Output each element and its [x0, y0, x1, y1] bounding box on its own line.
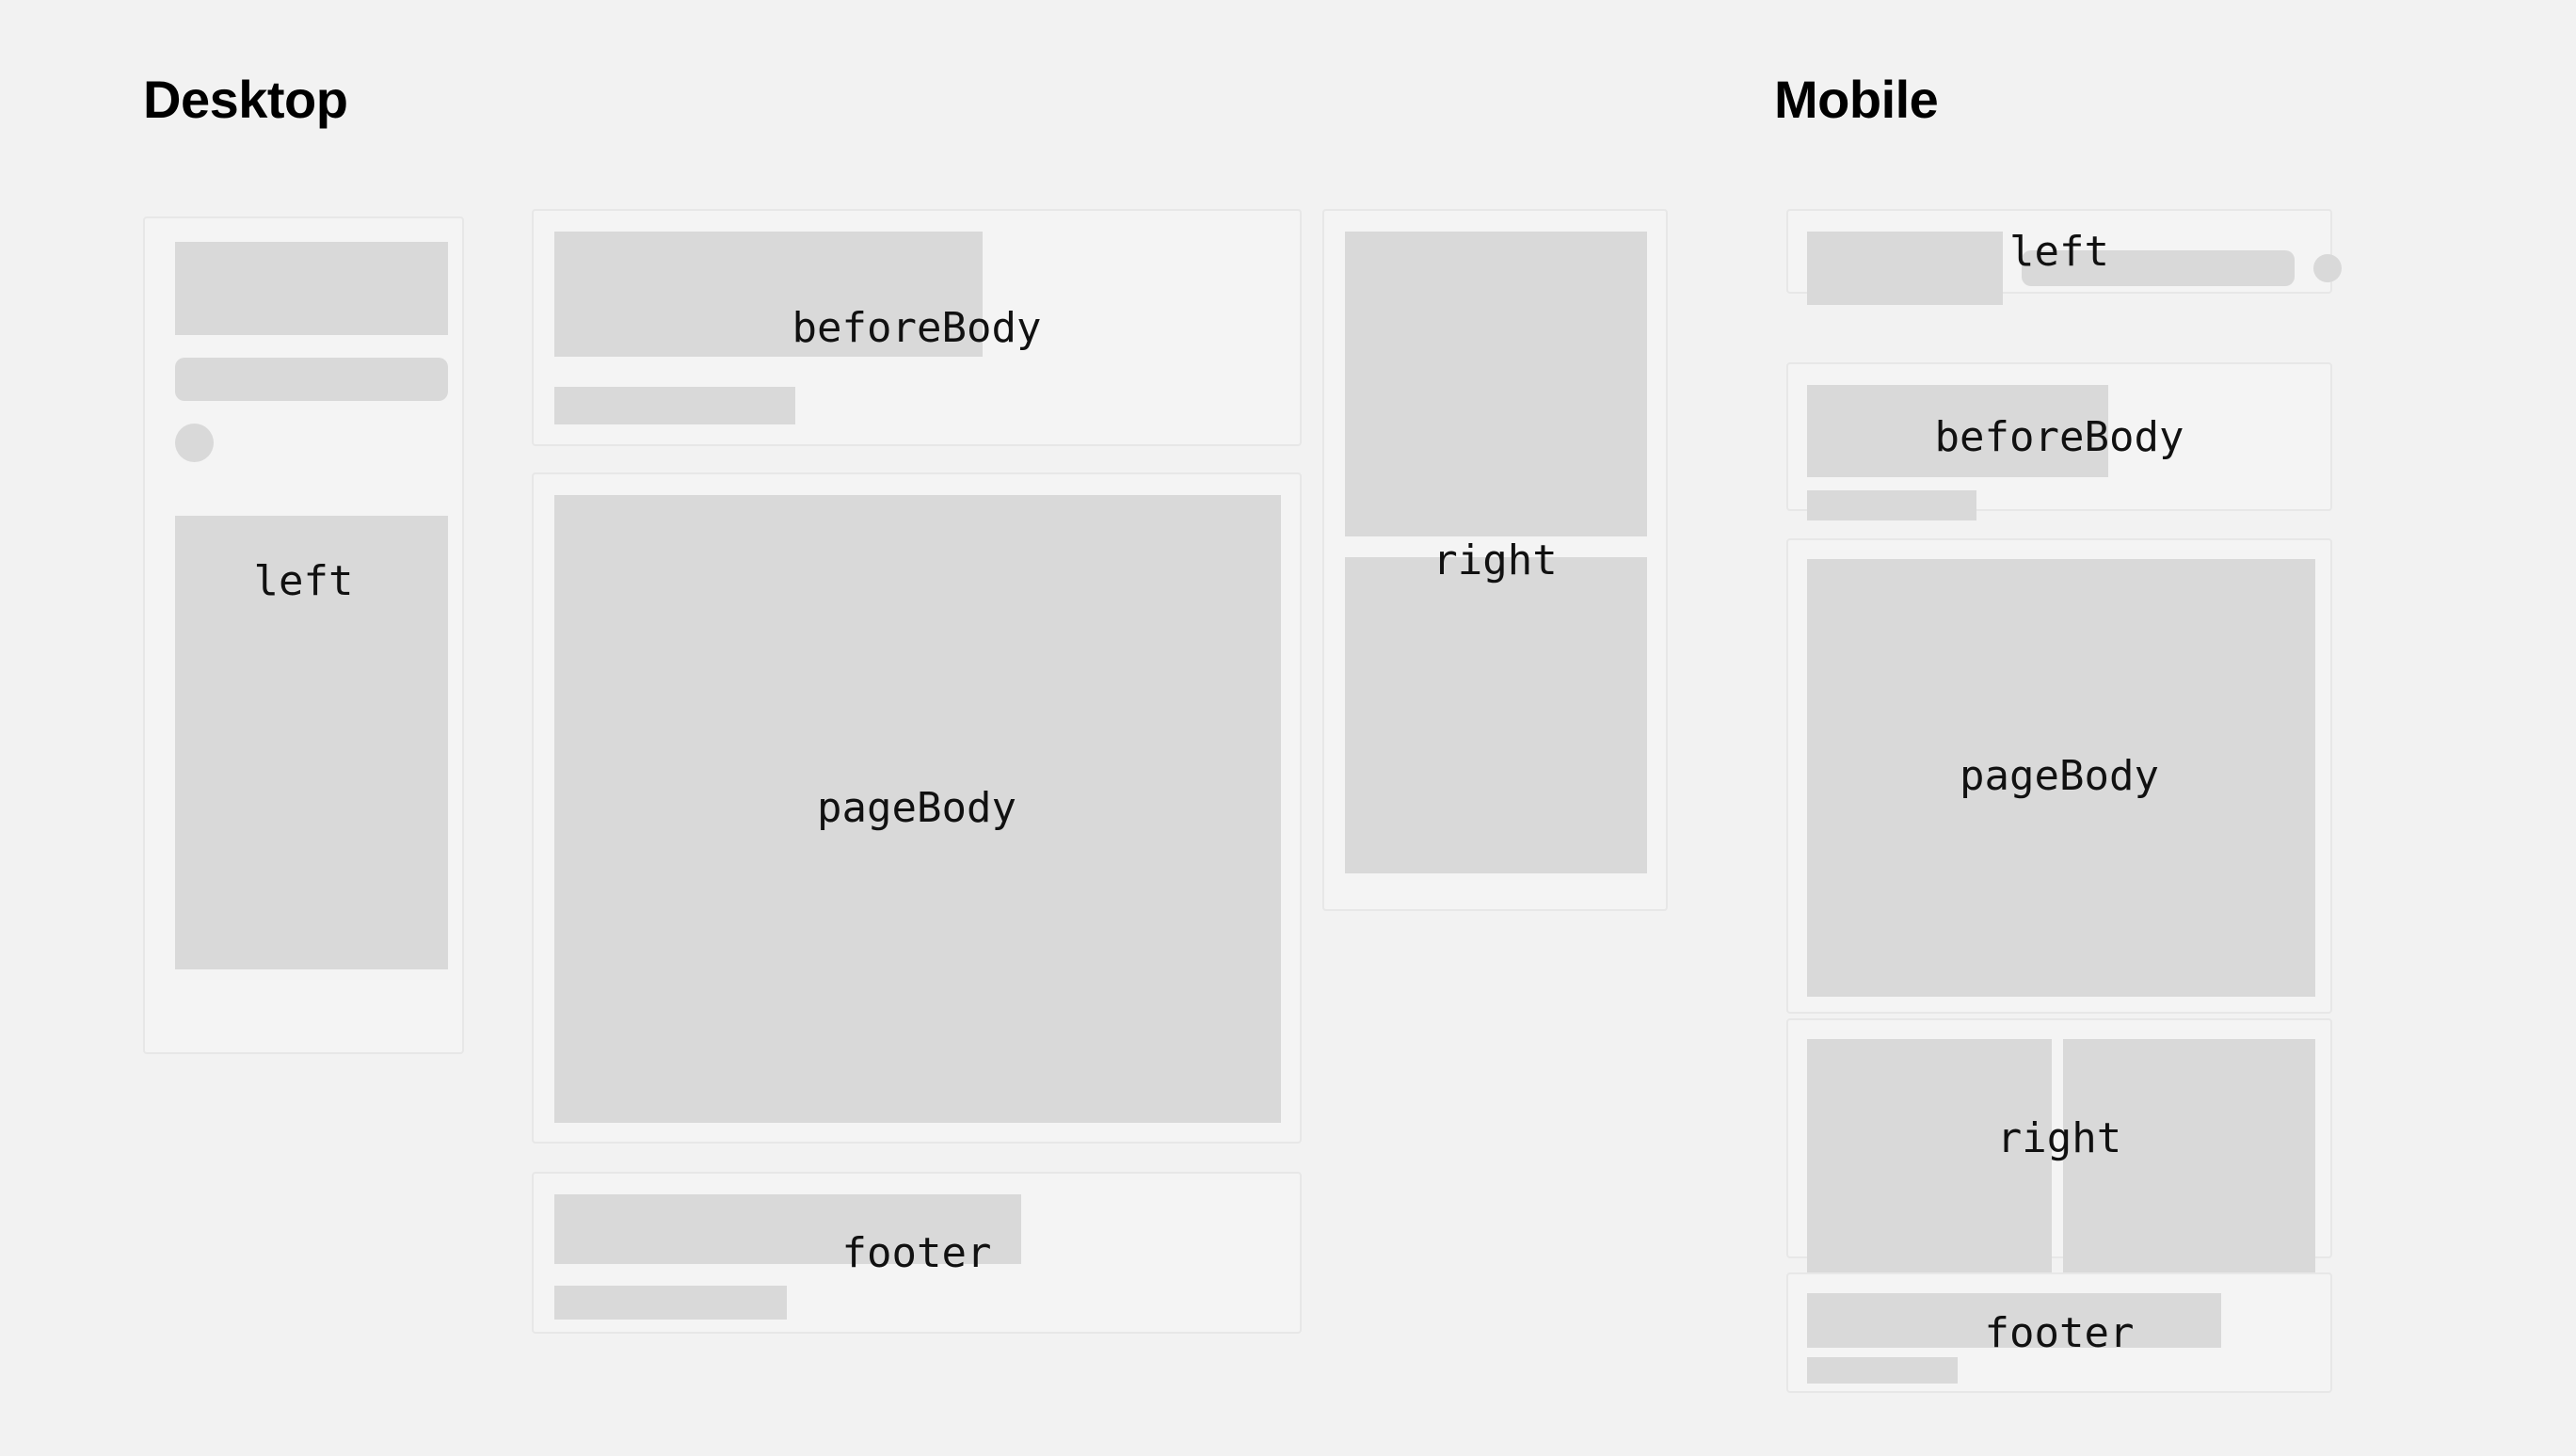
- skeleton-rect: [2063, 1039, 2315, 1276]
- skeleton-rect: [554, 1286, 787, 1320]
- skeleton-rounded-bar: [2022, 250, 2295, 286]
- mobile-slot-footer-panel[interactable]: [1786, 1272, 2332, 1393]
- skeleton-rect: [1807, 559, 2315, 997]
- mobile-slot-left-panel[interactable]: [1786, 209, 2332, 294]
- skeleton-rect: [554, 495, 1281, 1123]
- desktop-slot-left-panel[interactable]: [143, 216, 464, 1054]
- desktop-slot-pagebody-panel[interactable]: [532, 472, 1302, 1144]
- desktop-slot-beforebody-panel[interactable]: [532, 209, 1302, 446]
- skeleton-rect: [554, 1194, 1021, 1264]
- mobile-section-heading: Mobile: [1774, 73, 1938, 126]
- skeleton-rect: [175, 242, 448, 335]
- responsive-layout-preview: Desktop left beforeBody pageBody footer …: [0, 0, 2576, 1456]
- skeleton-circle-avatar: [175, 424, 214, 462]
- skeleton-rounded-bar: [175, 358, 448, 401]
- skeleton-rect: [1807, 1357, 1958, 1384]
- skeleton-rect: [554, 232, 983, 357]
- mobile-slot-pagebody-panel[interactable]: [1786, 538, 2332, 1014]
- skeleton-rect: [554, 387, 795, 424]
- skeleton-rect: [1807, 1293, 2221, 1348]
- skeleton-rect: [1345, 232, 1647, 536]
- skeleton-rect: [1807, 1039, 2052, 1276]
- mobile-slot-right-panel[interactable]: [1786, 1018, 2332, 1258]
- skeleton-rect: [1807, 490, 1976, 520]
- desktop-slot-footer-panel[interactable]: [532, 1172, 1302, 1334]
- skeleton-circle-avatar: [2313, 254, 2342, 282]
- desktop-slot-right-panel[interactable]: [1322, 209, 1668, 911]
- desktop-section-heading: Desktop: [143, 73, 347, 126]
- skeleton-rect: [1807, 232, 2003, 305]
- mobile-slot-beforebody-panel[interactable]: [1786, 362, 2332, 511]
- skeleton-rect: [1807, 385, 2108, 477]
- skeleton-rect: [175, 516, 448, 969]
- skeleton-rect: [1345, 557, 1647, 873]
